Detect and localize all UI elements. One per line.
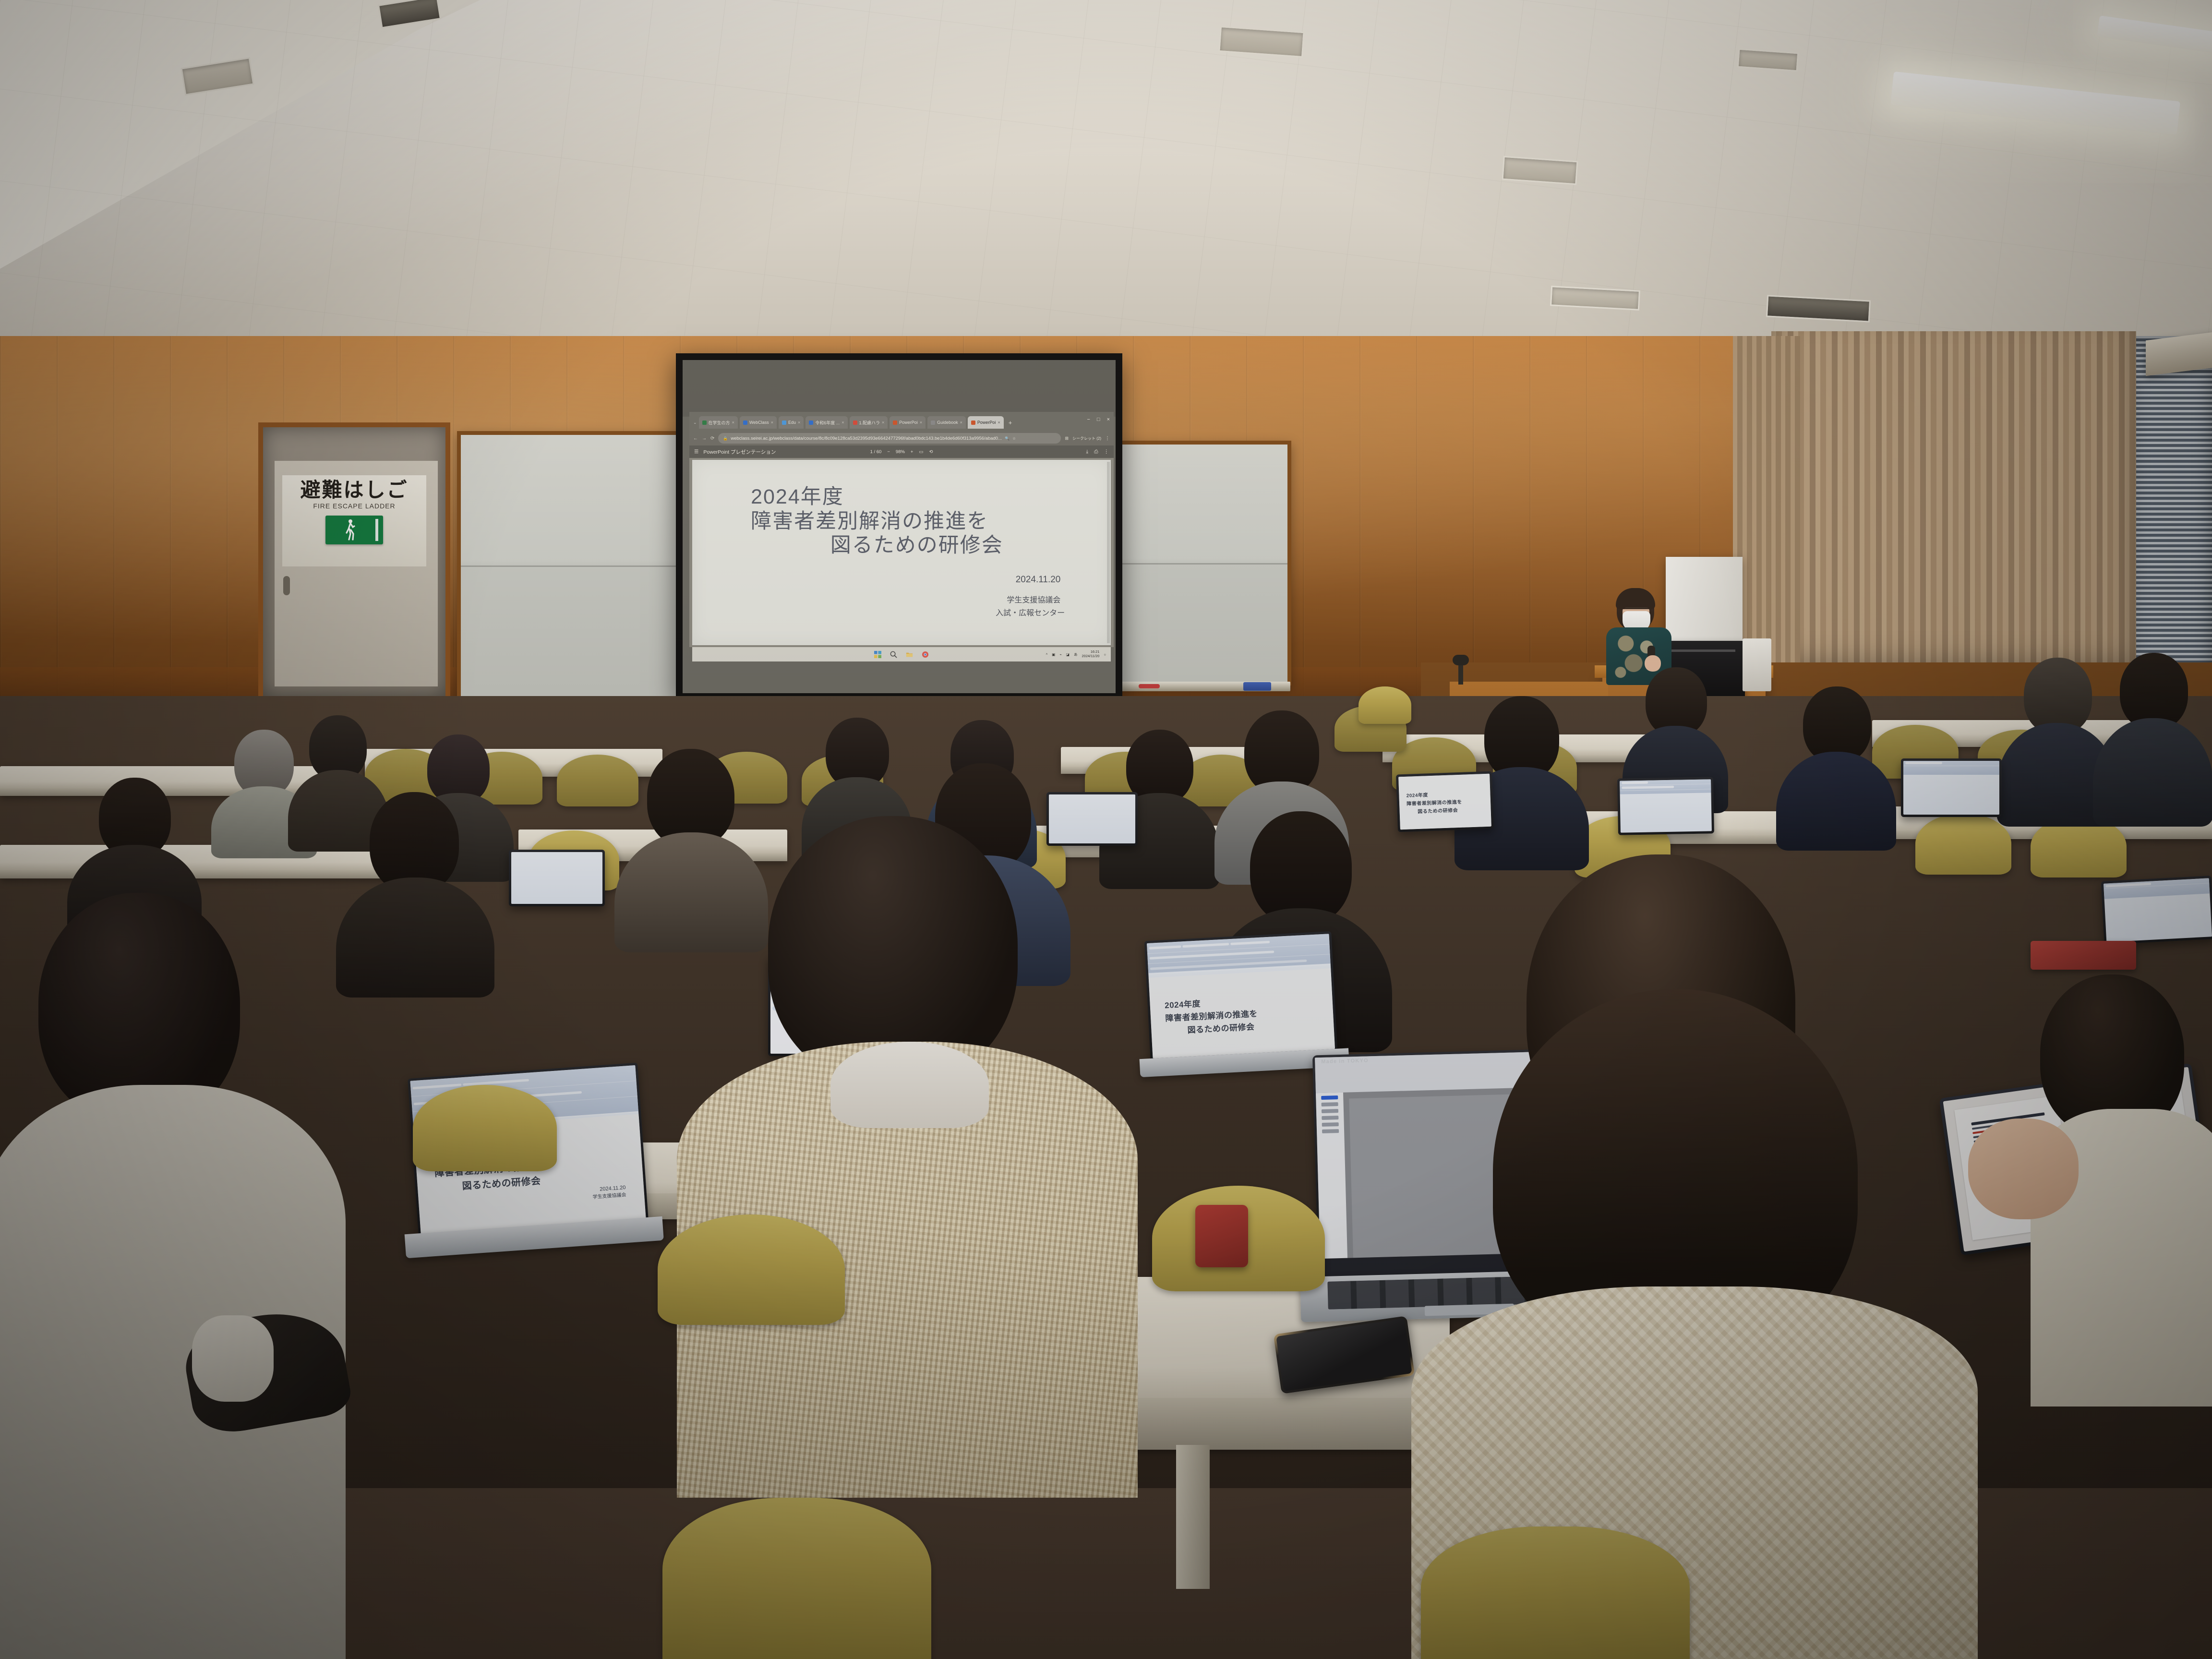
tab-label: Edu bbox=[788, 420, 796, 425]
taskbar-system-tray[interactable]: ^ ▣ ⌁ ◪ あ 16:21 2024/11/20 ○ bbox=[1046, 650, 1106, 658]
laptop-screen bbox=[511, 852, 602, 904]
front-left-slide-org: 学生支援協議会 bbox=[592, 1190, 626, 1200]
browser-tab[interactable]: 令和6年度 ...× bbox=[805, 416, 847, 429]
lecture-chair[interactable] bbox=[1358, 686, 1411, 724]
whiteboard-marker-right[interactable] bbox=[1139, 684, 1160, 688]
slide-date: 2024.11.20 bbox=[1016, 575, 1061, 585]
window-curtain bbox=[1771, 331, 2136, 682]
person-sleeve-cuff bbox=[192, 1315, 274, 1402]
center-laptop-slide-line3: 図るための研修会 bbox=[1187, 1020, 1255, 1035]
window-controls[interactable]: − □ × bbox=[1087, 417, 1110, 422]
projected-browser-window: ⌄ 在学生の方× WebClass× Edu× 令和6年度 ...× 1.配慮ハ… bbox=[689, 412, 1114, 647]
laptop-screen bbox=[2104, 878, 2212, 942]
tab-close-icon[interactable]: × bbox=[998, 420, 1000, 425]
running-man-exit-icon bbox=[325, 516, 383, 544]
chevron-up-icon[interactable]: ^ bbox=[1046, 652, 1048, 657]
lock-icon: 🔒 bbox=[723, 436, 728, 441]
tab-label: WebClass bbox=[749, 420, 769, 425]
red-notebook-on-desk[interactable] bbox=[2031, 941, 2136, 970]
tab-close-icon[interactable]: × bbox=[920, 420, 922, 425]
tab-close-icon[interactable]: × bbox=[960, 420, 962, 425]
address-bar[interactable]: 🔒 webclass.seirei.ac.jp/webclass/data/co… bbox=[718, 433, 1061, 444]
pdf-highlight-tool-icon[interactable] bbox=[1322, 1109, 1338, 1113]
center-laptop-slide-line1: 2024年度 bbox=[1164, 997, 1201, 1010]
tab-favicon bbox=[931, 421, 935, 425]
browser-tab[interactable]: WebClass× bbox=[740, 416, 777, 429]
red-pouch-on-desk[interactable] bbox=[1195, 1205, 1248, 1267]
zoom-out-button[interactable]: − bbox=[887, 449, 890, 455]
slide-org-2: 入試・広報センター bbox=[996, 606, 1065, 618]
pdf-comment-tool-icon[interactable] bbox=[1322, 1116, 1338, 1120]
mid-chair-center[interactable] bbox=[413, 1085, 557, 1171]
whiteboard-eraser-right[interactable] bbox=[1243, 682, 1271, 691]
forward-icon[interactable]: → bbox=[702, 436, 707, 441]
audience-member bbox=[2093, 653, 2212, 826]
volume-icon[interactable]: ◪ bbox=[1066, 652, 1070, 657]
tab-close-icon[interactable]: × bbox=[798, 420, 800, 425]
laptop-back-row[interactable]: 2024年度障害者差別解消の推進を図るための研修会 bbox=[1396, 771, 1494, 832]
audience-member bbox=[1776, 686, 1896, 850]
incognito-badge: シークレット (2) bbox=[1072, 436, 1101, 441]
file-explorer-icon[interactable] bbox=[906, 651, 913, 658]
laptop-back-row[interactable] bbox=[509, 850, 605, 906]
fire-escape-ladder-sign: 避難はしご FIRE ESCAPE LADDER bbox=[282, 475, 426, 566]
bookmark-star-icon[interactable]: ☆ bbox=[1012, 436, 1016, 441]
whiteboard-left bbox=[457, 431, 683, 700]
laptop-back-row[interactable] bbox=[1901, 758, 2002, 817]
tab-close-icon[interactable]: × bbox=[732, 420, 734, 425]
pdf-viewer-toolbar: ☰ PowerPoint プレゼンテーション 1 / 60 − 98% + ▭ … bbox=[689, 445, 1114, 458]
laptop-back-row[interactable] bbox=[2101, 876, 2212, 945]
windows-taskbar[interactable]: ^ ▣ ⌁ ◪ あ 16:21 2024/11/20 ○ bbox=[692, 647, 1111, 661]
notifications-icon[interactable]: ○ bbox=[1104, 652, 1106, 657]
window-blinds-far-right bbox=[2129, 336, 2212, 672]
exit-door-bar bbox=[375, 519, 378, 541]
hp-bezel-text: Made in TOKYO bbox=[1321, 1058, 1369, 1065]
foreground-audience-center bbox=[677, 816, 1138, 1488]
pdf-zoom-tool-icon[interactable] bbox=[1321, 1102, 1338, 1106]
pdf-sign-tool-icon[interactable] bbox=[1322, 1129, 1339, 1133]
tab-favicon bbox=[743, 421, 747, 425]
microphone-head bbox=[1453, 655, 1469, 665]
tab-favicon bbox=[853, 421, 857, 425]
center-laptop[interactable]: 2024年度 障害者差別解消の推進を 図るための研修会 bbox=[1144, 931, 1338, 1061]
laptop-back-row[interactable] bbox=[1617, 777, 1714, 835]
person-shoulders bbox=[1776, 752, 1896, 851]
slide-line3: 図るための研修会 bbox=[830, 529, 1003, 558]
projection-screen: ⌄ 在学生の方× WebClass× Edu× 令和6年度 ...× 1.配慮ハ… bbox=[676, 353, 1122, 700]
microphone-stand bbox=[1458, 662, 1463, 685]
zoom-in-button[interactable]: + bbox=[911, 449, 914, 455]
audience-member bbox=[336, 792, 494, 994]
browser-tab[interactable]: PowerPoi× bbox=[890, 416, 926, 429]
rotate-icon[interactable]: ⟲ bbox=[929, 449, 933, 455]
mini-slide-line3: 図るための研修会 bbox=[1418, 806, 1458, 815]
tab-close-icon[interactable]: × bbox=[882, 420, 884, 425]
tab-close-icon[interactable]: × bbox=[771, 420, 773, 425]
laptop-screen bbox=[1903, 761, 1999, 815]
viewer-title: PowerPoint プレゼンテーション bbox=[703, 448, 776, 456]
chrome-icon[interactable] bbox=[922, 651, 929, 658]
page-indicator: 1 / 60 bbox=[870, 449, 882, 455]
window-curtain-edge bbox=[1733, 336, 1800, 672]
network-icon[interactable]: ⌁ bbox=[1059, 652, 1062, 657]
tab-favicon bbox=[809, 421, 813, 425]
slide-scrollbar[interactable] bbox=[1107, 462, 1110, 643]
browser-tab[interactable]: Guidebook× bbox=[927, 416, 966, 429]
door-handle[interactable] bbox=[283, 576, 290, 595]
fit-page-icon[interactable]: ▭ bbox=[919, 449, 923, 455]
lecture-hall-photo: 避難はしご FIRE ESCAPE LADDER bbox=[0, 0, 2212, 1659]
tab-list-chevron-icon[interactable]: ⌄ bbox=[693, 420, 697, 425]
escape-sign-en-text: FIRE ESCAPE LADDER bbox=[313, 502, 395, 510]
browser-tab-active[interactable]: PowerPoi× bbox=[968, 416, 1004, 429]
mini-slide-line2: 障害者差別解消の推進を bbox=[1407, 797, 1462, 806]
ime-icon[interactable]: あ bbox=[1074, 652, 1078, 657]
tab-label: PowerPoi bbox=[977, 420, 996, 425]
zoom-level: 98% bbox=[896, 449, 905, 455]
tab-label: 1.配慮ハラ bbox=[859, 420, 880, 426]
reload-icon[interactable]: ⟳ bbox=[710, 436, 714, 441]
extensions-icon[interactable]: ⊞ bbox=[1065, 436, 1069, 441]
clock-date: 2024/11/20 bbox=[1082, 654, 1099, 659]
browser-tab[interactable]: 在学生の方× bbox=[699, 416, 738, 429]
browser-tab[interactable]: 1.配慮ハラ× bbox=[850, 416, 888, 429]
desk-leg bbox=[1176, 1445, 1210, 1589]
laptop-screen bbox=[1620, 779, 1712, 832]
print-icon[interactable]: ⎙ bbox=[1094, 449, 1098, 455]
windows-start-icon[interactable] bbox=[874, 651, 881, 658]
tab-label: Guidebook bbox=[937, 420, 958, 425]
search-icon[interactable] bbox=[890, 651, 897, 658]
mini-slide-line1: 2024年度 bbox=[1406, 791, 1428, 799]
foreground-audience-far-right bbox=[2031, 974, 2212, 1407]
minimize-button[interactable]: − bbox=[1087, 417, 1090, 422]
tab-label: 令和6年度 ... bbox=[815, 420, 840, 426]
onedrive-icon[interactable]: ▣ bbox=[1052, 652, 1055, 657]
browser-tab[interactable]: Edu× bbox=[779, 416, 804, 429]
taskbar-clock[interactable]: 16:21 2024/11/20 bbox=[1082, 650, 1099, 658]
tab-favicon bbox=[893, 421, 897, 425]
presenter-hair bbox=[1616, 588, 1655, 609]
escape-sign-jp-text: 避難はしご bbox=[300, 480, 408, 500]
pdf-select-tool-icon[interactable] bbox=[1321, 1095, 1338, 1100]
ceiling bbox=[0, 0, 2212, 365]
person-shoulders bbox=[336, 878, 494, 998]
front-chair-right[interactable] bbox=[1421, 1527, 1690, 1659]
search-icon[interactable]: 🔍 bbox=[1005, 436, 1010, 441]
slide-org-1: 学生支援協議会 bbox=[1007, 593, 1060, 605]
mid-chair-left[interactable] bbox=[658, 1214, 845, 1325]
tab-favicon bbox=[702, 421, 707, 425]
person-shoulders bbox=[2093, 718, 2212, 827]
tab-close-icon[interactable]: × bbox=[842, 420, 844, 425]
download-icon[interactable]: ⤓ bbox=[1086, 449, 1088, 455]
browser-chrome: ⌄ 在学生の方× WebClass× Edu× 令和6年度 ...× 1.配慮ハ… bbox=[689, 412, 1114, 458]
tab-label: 在学生の方 bbox=[709, 420, 730, 426]
center-laptop-browser-chrome bbox=[1147, 934, 1331, 973]
browser-tab-strip[interactable]: ⌄ 在学生の方× WebClass× Edu× 令和6年度 ...× 1.配慮ハ… bbox=[689, 415, 1114, 430]
running-man-glyph bbox=[345, 518, 356, 541]
presenter bbox=[1603, 588, 1675, 679]
tab-favicon bbox=[782, 421, 786, 425]
tab-favicon bbox=[971, 421, 975, 425]
slide-canvas: 2024年度 障害者差別解消の推進を 図るための研修会 2024.11.20 学… bbox=[692, 460, 1111, 645]
more-vert-icon[interactable]: ⋮ bbox=[1104, 449, 1109, 455]
tab-label: PowerPoi bbox=[899, 420, 918, 425]
whiteboard-right bbox=[1118, 441, 1291, 685]
person-hand bbox=[1968, 1118, 2079, 1219]
document-camera bbox=[1743, 638, 1771, 691]
pdf-stamp-tool-icon[interactable] bbox=[1322, 1122, 1338, 1127]
front-chair-left[interactable] bbox=[662, 1498, 931, 1659]
browser-toolbar: ← → ⟳ 🔒 webclass.seirei.ac.jp/webclass/d… bbox=[693, 432, 1110, 445]
shirt-collar bbox=[830, 1042, 989, 1128]
back-icon[interactable]: ← bbox=[693, 436, 698, 441]
center-laptop-screen: 2024年度 障害者差別解消の推進を 図るための研修会 bbox=[1147, 934, 1335, 1058]
service-door-recess[interactable]: 避難はしご FIRE ESCAPE LADDER bbox=[258, 422, 450, 701]
foreground-audience-left bbox=[0, 893, 346, 1659]
url-text: webclass.seirei.ac.jp/webclass/data/cour… bbox=[731, 436, 1002, 441]
hamburger-icon[interactable]: ☰ bbox=[694, 449, 698, 455]
new-tab-button[interactable]: + bbox=[1009, 419, 1012, 426]
close-window-button[interactable]: × bbox=[1107, 417, 1110, 422]
maximize-button[interactable]: □ bbox=[1097, 417, 1100, 422]
browser-menu-icon[interactable]: ⋮ bbox=[1105, 436, 1110, 441]
